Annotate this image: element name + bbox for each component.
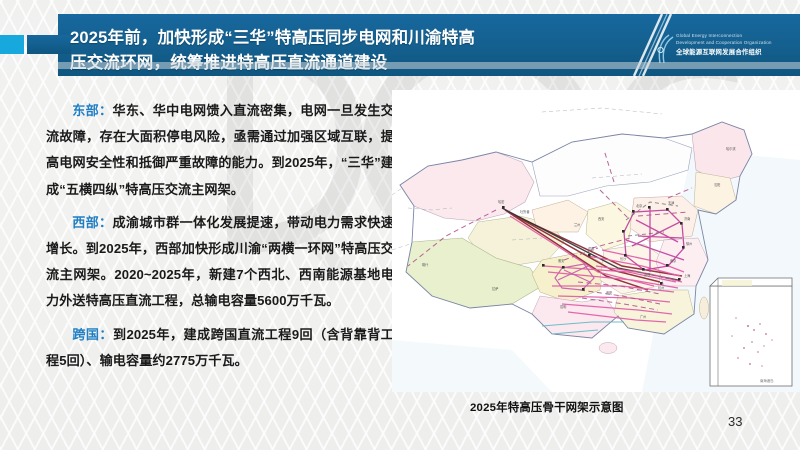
paragraph-east-lead: 东部：: [72, 103, 112, 118]
svg-text:长沙: 长沙: [620, 256, 627, 261]
svg-text:拉萨: 拉萨: [492, 286, 499, 291]
globe-icon: [654, 34, 674, 64]
svg-text:天津: 天津: [668, 200, 675, 205]
svg-text:上海: 上海: [684, 273, 691, 278]
svg-text:北京: 北京: [636, 203, 642, 208]
paragraph-west: 西部：成渝城市群一体化发展提速，带动电力需求快速增长。到2025年，西部加快形成…: [46, 210, 394, 315]
svg-text:昆明: 昆明: [560, 304, 566, 309]
svg-text:广州: 广州: [640, 314, 646, 319]
svg-text:南京: 南京: [670, 258, 676, 263]
logo-chinese: 全球能源互联网发展合作组织: [676, 48, 796, 58]
svg-text:徐州: 徐州: [686, 241, 692, 246]
svg-text:武汉: 武汉: [644, 272, 651, 277]
svg-text:哈尔滨: 哈尔滨: [726, 146, 736, 151]
map-caption: 2025年特高压骨干网架示意图: [470, 399, 750, 415]
geidco-logo: Global Energy Interconnection Developmen…: [676, 32, 796, 76]
svg-text:雅安: 雅安: [558, 258, 564, 263]
svg-text:杭州: 杭州: [658, 285, 664, 290]
svg-text:沈阳: 沈阳: [714, 182, 720, 187]
svg-text:南海诸岛: 南海诸岛: [760, 378, 774, 383]
svg-text:西安: 西安: [598, 216, 604, 221]
svg-text:成都: 成都: [588, 246, 595, 251]
paragraph-west-lead: 西部：: [72, 215, 112, 230]
header-shadow-strip: [58, 62, 800, 69]
header-accent-cyan: [0, 35, 24, 54]
paragraph-east: 东部：华东、华中电网馈入直流密集，电网一旦发生交流故障，存在大面积停电风险，亟需…: [46, 98, 394, 203]
page-number: 33: [728, 414, 742, 429]
svg-text:吐鲁番: 吐鲁番: [520, 209, 530, 214]
paragraph-transnational-lead: 跨国：: [72, 327, 113, 342]
svg-text:喀什: 喀什: [422, 262, 429, 267]
body-text-column: 东部：华东、华中电网馈入直流密集，电网一旦发生交流故障，存在大面积停电风险，亟需…: [46, 98, 394, 381]
paragraph-transnational: 跨国：到2025年，建成跨国直流工程9回（含背靠背工程5回）、输电容量约2775…: [46, 322, 394, 374]
svg-text:济南: 济南: [684, 216, 690, 221]
logo-english-line2: Development and Cooperation Organization: [676, 39, 796, 46]
slide-canvas: 2025年前，加快形成“三华”特高压同步电网和川渝特高 压交流环网，统筹推进特高…: [0, 0, 800, 450]
svg-text:兰州: 兰州: [574, 222, 580, 227]
map-graphic: 哈密 吐鲁番 成都 雅安 北京 天津 济南 徐州 南京 武汉 长沙 上海 杭州 …: [392, 90, 800, 392]
svg-text:哈密: 哈密: [498, 199, 505, 204]
china-uhv-grid-map: 哈密 吐鲁番 成都 雅安 北京 天津 济南 徐州 南京 武汉 长沙 上海 杭州 …: [392, 90, 800, 392]
header-accent-blue: [27, 35, 71, 54]
logo-english-line1: Global Energy Interconnection: [676, 32, 796, 39]
svg-text:贵阳: 贵阳: [606, 290, 612, 295]
